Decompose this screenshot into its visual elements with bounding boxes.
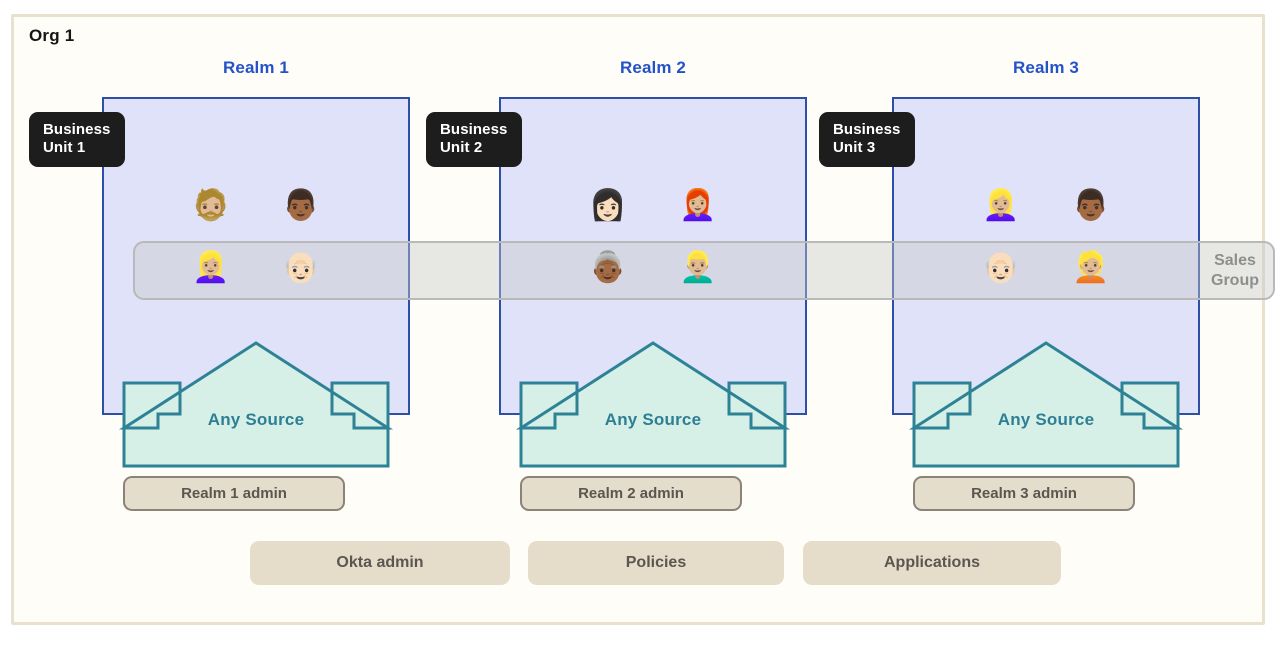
user-avatar: 👩🏻 xyxy=(587,185,629,227)
any-source-label-3: Any Source xyxy=(907,410,1185,430)
diagram-canvas: Org 1 Realm 1 🧔🏼 👨🏾 👱🏼‍♀️ 👴🏻 Business Un… xyxy=(0,0,1280,645)
user-avatar: 👴🏻 xyxy=(980,247,1022,289)
realm-1-user-row-group: 👱🏼‍♀️ 👴🏻 xyxy=(102,247,410,289)
realm-2-user-row-top: 👩🏻 👩🏼‍🦰 xyxy=(499,185,807,227)
user-avatar: 👱🏼‍♂️ xyxy=(677,247,719,289)
any-source-shape-2: Any Source xyxy=(514,338,792,471)
realm-1-user-row-top: 🧔🏼 👨🏾 xyxy=(102,185,410,227)
realm-title-3: Realm 3 xyxy=(892,58,1200,78)
sales-group-label: Sales Group xyxy=(1211,251,1259,291)
realm-3-user-row-top: 👱🏼‍♀️ 👨🏾 xyxy=(892,185,1200,227)
realm-3-user-row-group: 👴🏻 👱🏼 xyxy=(892,247,1200,289)
realm-1-admin-button[interactable]: Realm 1 admin xyxy=(123,476,345,511)
user-avatar: 👨🏾 xyxy=(280,185,322,227)
business-unit-pill-1: Business Unit 1 xyxy=(29,112,125,167)
realm-2-user-row-group: 👵🏾 👱🏼‍♂️ xyxy=(499,247,807,289)
user-avatar: 👵🏾 xyxy=(587,247,629,289)
policies-button[interactable]: Policies xyxy=(528,541,784,585)
okta-admin-button[interactable]: Okta admin xyxy=(250,541,510,585)
applications-button[interactable]: Applications xyxy=(803,541,1061,585)
realm-title-2: Realm 2 xyxy=(499,58,807,78)
any-source-label-1: Any Source xyxy=(117,410,395,430)
user-avatar: 👱🏼 xyxy=(1070,247,1112,289)
any-source-label-2: Any Source xyxy=(514,410,792,430)
org-title: Org 1 xyxy=(29,26,74,46)
user-avatar: 🧔🏼 xyxy=(190,185,232,227)
realm-3-admin-button[interactable]: Realm 3 admin xyxy=(913,476,1135,511)
realm-title-1: Realm 1 xyxy=(102,58,410,78)
user-avatar: 👱🏼‍♀️ xyxy=(980,185,1022,227)
realm-2-admin-button[interactable]: Realm 2 admin xyxy=(520,476,742,511)
user-avatar: 👨🏾 xyxy=(1070,185,1112,227)
user-avatar: 👩🏼‍🦰 xyxy=(677,185,719,227)
any-source-shape-3: Any Source xyxy=(907,338,1185,471)
user-avatar: 👱🏼‍♀️ xyxy=(190,247,232,289)
any-source-shape-1: Any Source xyxy=(117,338,395,471)
business-unit-pill-3: Business Unit 3 xyxy=(819,112,915,167)
business-unit-pill-2: Business Unit 2 xyxy=(426,112,522,167)
user-avatar: 👴🏻 xyxy=(280,247,322,289)
